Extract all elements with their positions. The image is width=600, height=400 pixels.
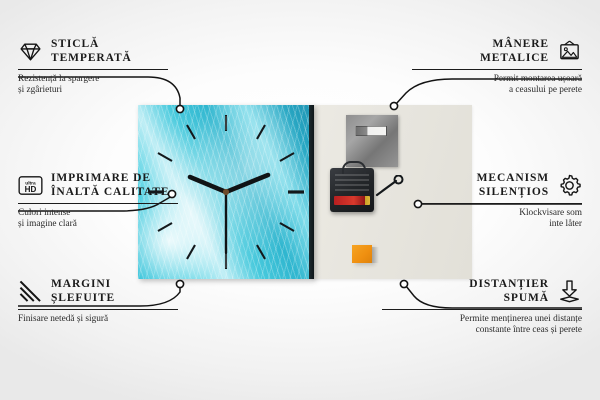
feature-header: STICLĂ TEMPERATĂ [18,38,168,65]
divider [382,309,582,310]
divider [422,203,582,204]
svg-text:HD: HD [25,185,37,194]
infographic-stage: STICLĂ TEMPERATĂ Rezistență la spargere … [0,0,600,400]
feature-polished-edges: MARGINI ȘLEFUITE Finisare netedă și sigu… [18,278,178,325]
feature-foam-spacer: DISTANȚIER SPUMĂ Permite menținerea unei… [382,278,582,337]
feature-header: MÂNERE METALICE [412,38,582,65]
feature-silent-mechanism: MECANISM SILENȚIOS Klockvisare som inte … [422,172,582,231]
gear-icon [557,173,582,198]
feature-title: STICLĂ TEMPERATĂ [51,38,132,65]
framed-picture-icon [557,39,582,64]
feature-tempered-glass: STICLĂ TEMPERATĂ Rezistență la spargere … [18,38,168,97]
feature-desc: Permit montarea ușoară a ceasului pe per… [412,74,582,97]
feature-desc: Finisare netedă și sigură [18,314,178,325]
divider [412,69,582,70]
feature-title: MECANISM SILENȚIOS [477,172,549,199]
feature-title: DISTANȚIER SPUMĂ [469,278,549,305]
mechanism-hanger [342,161,366,174]
clock-hand-part [374,175,404,197]
feature-header: MARGINI ȘLEFUITE [18,278,178,305]
mechanism-label-print [335,174,369,194]
feature-desc: Permite menținerea unei distanțe constan… [382,314,582,337]
glass-edge [309,105,314,279]
plate-slot [355,126,387,136]
feature-title: MÂNERE METALICE [480,38,549,65]
divider [18,69,168,70]
bevel-lines-icon [18,279,43,304]
down-arrow-stack-icon [557,279,582,304]
ultra-hd-icon: ultra HD [18,173,43,198]
clock-mechanism [330,168,374,212]
clock-face [138,105,314,279]
foam-spacer [352,245,372,263]
diamond-icon [18,39,43,64]
feature-header: DISTANȚIER SPUMĂ [382,278,582,305]
feature-title: MARGINI ȘLEFUITE [51,278,115,305]
feature-desc: Rezistență la spargere și zgârieturi [18,74,168,97]
metal-hanger-plate [346,115,398,167]
feature-metal-handles: MÂNERE METALICE Permit montarea ușoară a… [412,38,582,97]
feature-header: MECANISM SILENȚIOS [422,172,582,199]
feature-desc: Klockvisare som inte låter [422,208,582,231]
battery [334,196,370,205]
wall-clock-front [138,105,314,279]
divider [18,309,178,310]
